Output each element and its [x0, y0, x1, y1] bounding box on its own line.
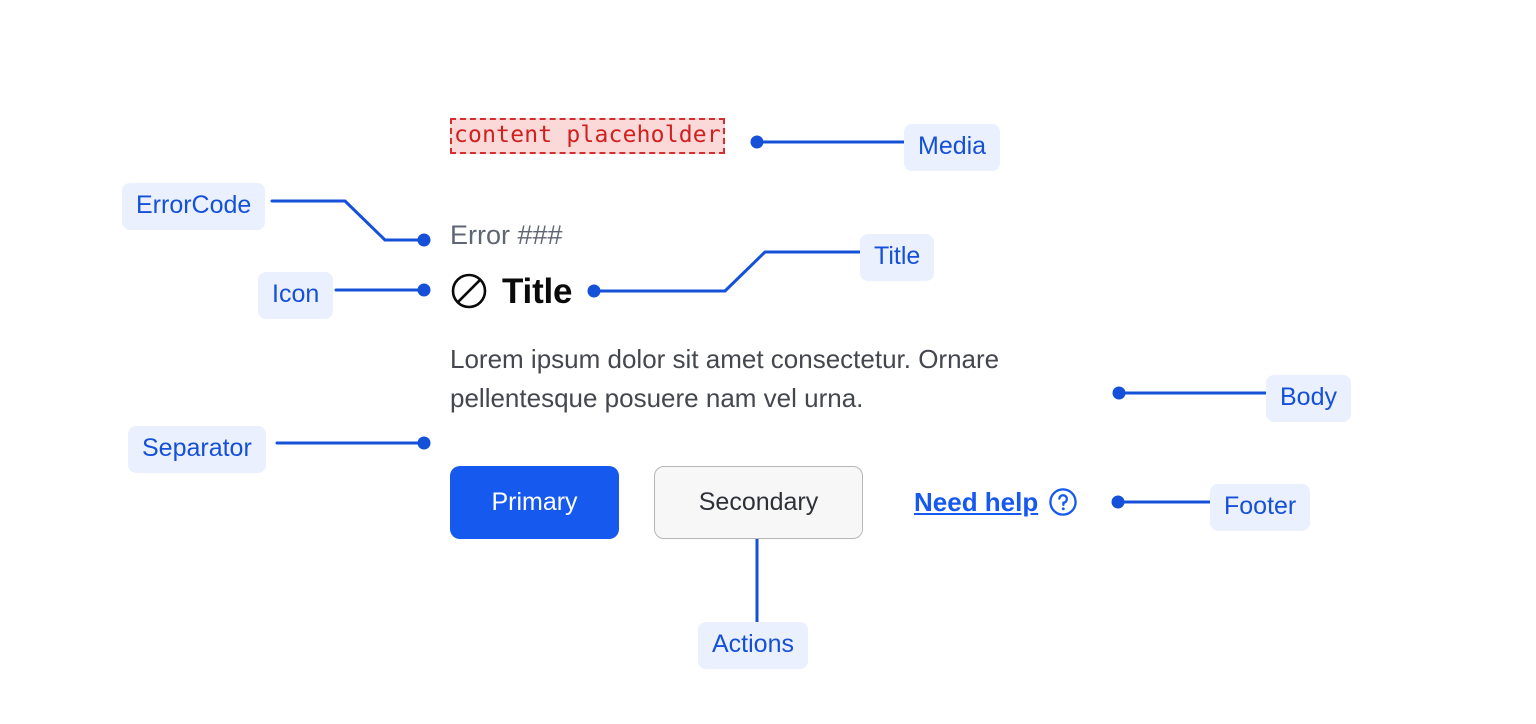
dot-icon [418, 284, 431, 297]
error-code-text: Error ### [450, 222, 1110, 249]
dot-separator [418, 437, 431, 450]
need-help-link[interactable]: Need help [914, 487, 1078, 517]
callout-icon[interactable]: Icon [258, 272, 333, 319]
body-text: Lorem ipsum dolor sit amet consectetur. … [450, 340, 1090, 418]
callout-footer[interactable]: Footer [1210, 484, 1310, 531]
error-card-content: content placeholder Error ### Title Lore… [450, 118, 1110, 441]
dot-body [1113, 387, 1126, 400]
callout-actions[interactable]: Actions [698, 622, 808, 669]
separator [450, 440, 1090, 441]
question-mark-circle-icon [1048, 487, 1078, 517]
title-row: Title [450, 272, 1110, 310]
callout-errorcode[interactable]: ErrorCode [122, 183, 265, 230]
annotated-error-page-diagram: content placeholder Error ### Title Lore… [0, 0, 1536, 724]
secondary-button[interactable]: Secondary [654, 466, 863, 539]
need-help-label: Need help [914, 489, 1038, 515]
callout-body[interactable]: Body [1266, 375, 1351, 422]
callout-title[interactable]: Title [860, 234, 934, 281]
callout-separator[interactable]: Separator [128, 426, 266, 473]
actions-row: Primary Secondary [450, 466, 863, 539]
page-title: Title [502, 274, 572, 309]
media-content-placeholder: content placeholder [450, 118, 725, 154]
connector-errorcode [272, 201, 424, 240]
callout-media[interactable]: Media [904, 124, 1000, 171]
dot-errorcode [418, 234, 431, 247]
dot-footer [1112, 496, 1125, 509]
prohibited-circle-slash-icon [450, 272, 488, 310]
primary-button[interactable]: Primary [450, 466, 619, 539]
